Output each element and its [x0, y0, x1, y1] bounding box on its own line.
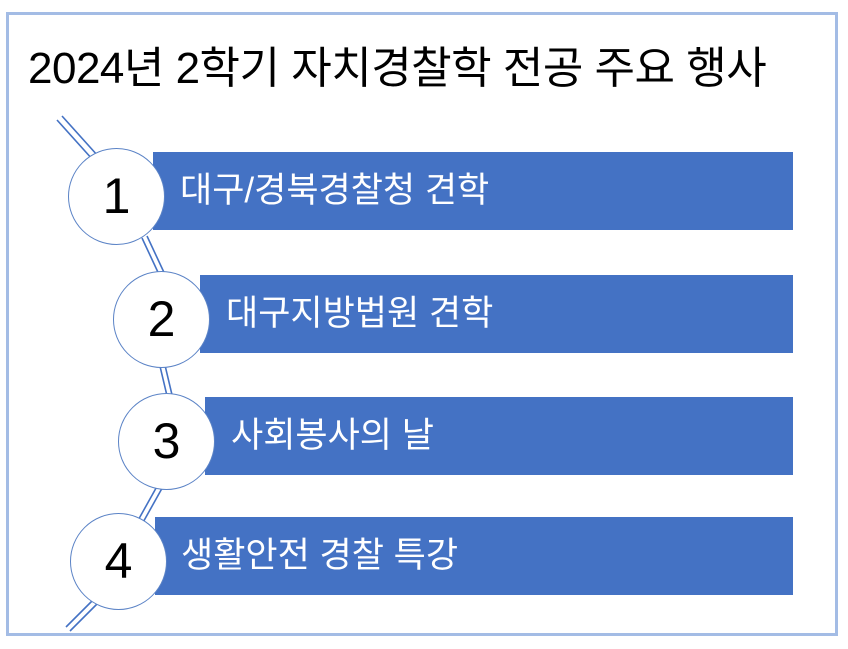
step-number-3: 3 — [118, 393, 215, 490]
step-number-2: 2 — [113, 271, 210, 368]
step-label-3: 사회봉사의 날 — [231, 397, 434, 475]
step-label-2: 대구지방법원 견학 — [226, 275, 493, 353]
step-number-4: 4 — [70, 513, 167, 610]
step-label-1: 대구/경북경찰청 견학 — [180, 152, 489, 230]
slide-canvas: 2024년 2학기 자치경찰학 전공 주요 행사 대구/경북경찰청 견학 1 대… — [0, 0, 848, 649]
step-number-1: 1 — [68, 148, 165, 245]
step-label-4: 생활안전 경찰 특강 — [181, 517, 458, 595]
